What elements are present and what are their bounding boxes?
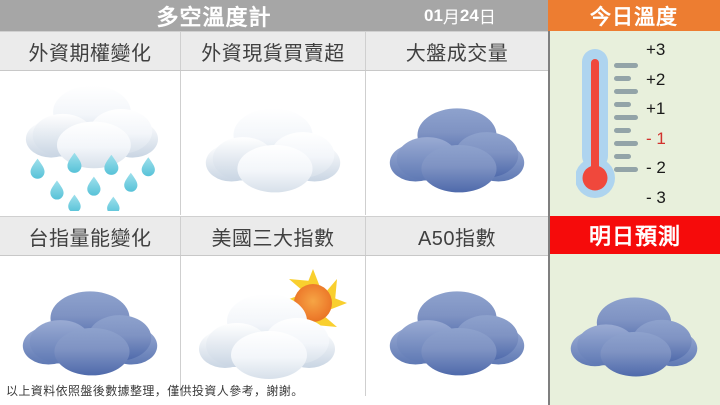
cell-a50-index	[365, 256, 548, 396]
thermometer-icon	[576, 45, 642, 207]
cell-foreign-spot	[180, 71, 365, 215]
header-row-2: 台指量能變化 美國三大指數 A50指數	[0, 216, 548, 256]
header-taiex-momentum: 台指量能變化	[0, 217, 180, 255]
rain-cloud-icon	[6, 75, 174, 211]
thermometer-block: +3 +2 +1 - 1 - 2 - 3	[548, 33, 720, 216]
date-day: 24	[460, 6, 479, 26]
date-label: 01月24日	[424, 0, 496, 31]
date-month-unit: 月	[443, 3, 460, 28]
header-row-1: 外資期權變化 外資現貨買賣超 大盤成交量	[0, 31, 548, 71]
cell-market-volume	[365, 71, 548, 215]
scale-value-minus1-current: - 1	[646, 130, 716, 147]
today-temperature-header: 今日溫度	[548, 0, 720, 31]
scale-value-minus3: - 3	[646, 189, 716, 206]
cloud-white-icon	[188, 87, 358, 199]
header-us-indices: 美國三大指數	[180, 217, 365, 255]
date-month: 01	[424, 6, 443, 26]
cell-us-indices	[180, 256, 365, 396]
cell-foreign-options	[0, 71, 180, 215]
indicator-grid: 外資期權變化 外資現貨買賣超 大盤成交量	[0, 31, 548, 405]
scale-value-plus1: +1	[646, 100, 716, 117]
forecast-weather-icon	[548, 254, 720, 405]
sun-behind-cloud-icon	[187, 267, 359, 385]
disclaimer-note: 以上資料依照盤後數據整理，僅供投資人參考，謝謝。	[6, 378, 546, 402]
header-foreign-options: 外資期權變化	[0, 32, 180, 70]
cloudy-dark-icon	[372, 270, 542, 382]
header-a50-index: A50指數	[365, 217, 548, 255]
tomorrow-forecast-header: 明日預測	[548, 216, 720, 254]
weather-dashboard: 多空溫度計 01月24日 今日溫度	[0, 0, 720, 405]
cell-taiex-momentum	[0, 256, 180, 396]
scale-value-plus3: +3	[646, 41, 716, 58]
date-day-unit: 日	[479, 3, 496, 28]
header-market-volume: 大盤成交量	[365, 32, 548, 70]
header-foreign-spot: 外資現貨買賣超	[180, 32, 365, 70]
cloudy-dark-icon	[5, 270, 175, 382]
cloudy-dark-icon	[372, 87, 542, 199]
cloudy-dark-icon	[554, 274, 714, 386]
temperature-scale: +3 +2 +1 - 1 - 2 - 3	[646, 41, 716, 206]
scale-value-minus2: - 2	[646, 159, 716, 176]
scale-value-plus2: +2	[646, 71, 716, 88]
